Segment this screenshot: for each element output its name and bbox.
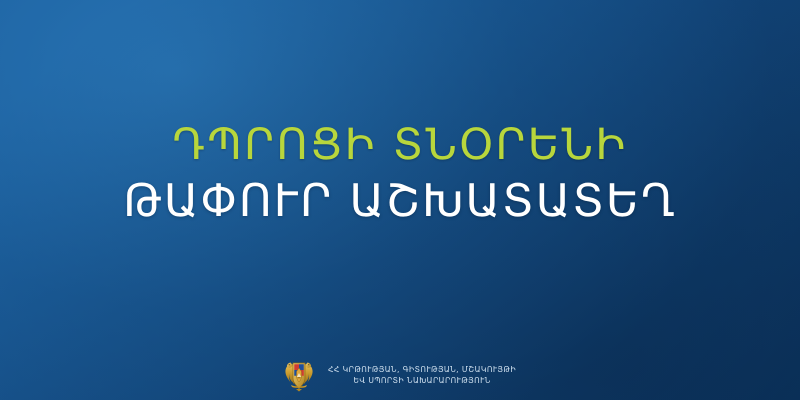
ministry-name-line2: ԵՎ ՍՊՈՐՏԻ ՆԱԽԱՐԱՐՈՒԹՅՈՒՆ	[328, 375, 516, 386]
headline-line-primary: ԴՊՐՈՑԻ ՏՆՕՐԵՆԻ	[24, 118, 776, 172]
announcement-banner: ԴՊՐՈՑԻ ՏՆՕՐԵՆԻ ԹԱՓՈՒՐ ԱՇԽԱՏԱՏԵՂ	[0, 0, 800, 400]
headline-block: ԴՊՐՈՑԻ ՏՆՕՐԵՆԻ ԹԱՓՈՒՐ ԱՇԽԱՏԱՏԵՂ	[0, 118, 800, 230]
ministry-name-line1: ՀՀ ԿՐԹՈՒԹՅԱՆ, ԳԻՏՈՒԹՅԱՆ, ՄՇԱԿՈՒՅԹԻ	[328, 364, 516, 375]
ministry-name: ՀՀ ԿՐԹՈՒԹՅԱՆ, ԳԻՏՈՒԹՅԱՆ, ՄՇԱԿՈՒՅԹԻ ԵՎ ՍՊ…	[328, 364, 516, 386]
armenia-coat-of-arms-icon	[284, 358, 314, 392]
footer-branding: ՀՀ ԿՐԹՈՒԹՅԱՆ, ԳԻՏՈՒԹՅԱՆ, ՄՇԱԿՈՒՅԹԻ ԵՎ ՍՊ…	[0, 358, 800, 392]
headline-line-secondary: ԹԱՓՈՒՐ ԱՇԽԱՏԱՏԵՂ	[24, 172, 776, 230]
